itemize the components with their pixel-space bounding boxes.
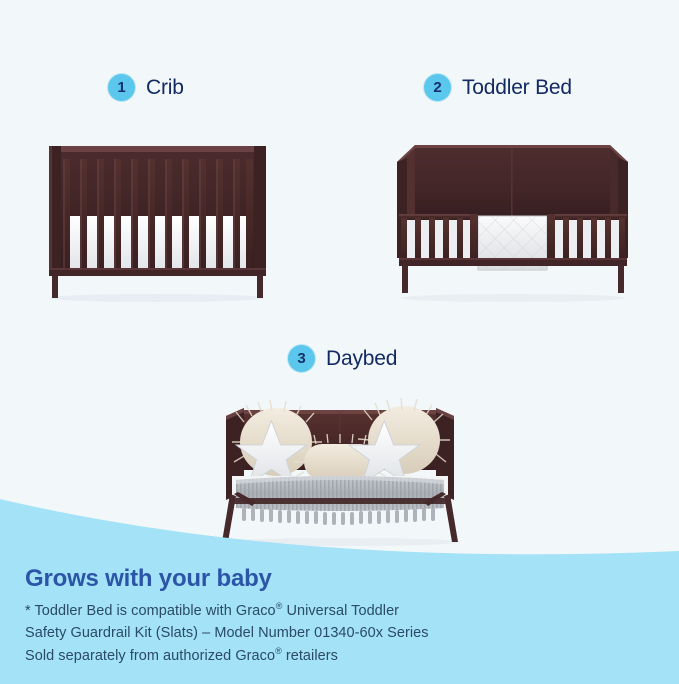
- step-caption-daybed: 3 Daybed: [288, 345, 397, 372]
- registered-mark-icon-2: ®: [275, 646, 282, 656]
- step-number-badge-1: 1: [108, 74, 135, 101]
- footer-text-block: Grows with your baby * Toddler Bed is co…: [25, 567, 645, 667]
- footer-heading: Grows with your baby: [25, 567, 645, 591]
- infographic-stage: 1 Crib 2 Toddler Bed 3 Daybed Grows with…: [0, 0, 679, 684]
- step-label-crib: Crib: [146, 76, 184, 100]
- step-label-toddler-bed: Toddler Bed: [462, 76, 572, 100]
- toddler-bed-illustration: [385, 128, 640, 303]
- step-number-badge-2: 2: [424, 74, 451, 101]
- footer-note: * Toddler Bed is compatible with Graco® …: [25, 600, 645, 667]
- crib-illustration: [35, 122, 280, 302]
- step-label-daybed: Daybed: [326, 347, 397, 371]
- step-caption-crib: 1 Crib: [108, 74, 184, 101]
- footer-line1-b: Universal Toddler: [282, 603, 399, 619]
- footer-band: Grows with your baby * Toddler Bed is co…: [0, 489, 679, 684]
- footer-line3-a: Sold separately from authorized Graco: [25, 648, 275, 664]
- footer-line1-a: * Toddler Bed is compatible with Graco: [25, 603, 276, 619]
- step-caption-toddler-bed: 2 Toddler Bed: [424, 74, 572, 101]
- footer-line3-b: retailers: [282, 648, 338, 664]
- footer-line2: Safety Guardrail Kit (Slats) – Model Num…: [25, 625, 429, 641]
- step-number-badge-3: 3: [288, 345, 315, 372]
